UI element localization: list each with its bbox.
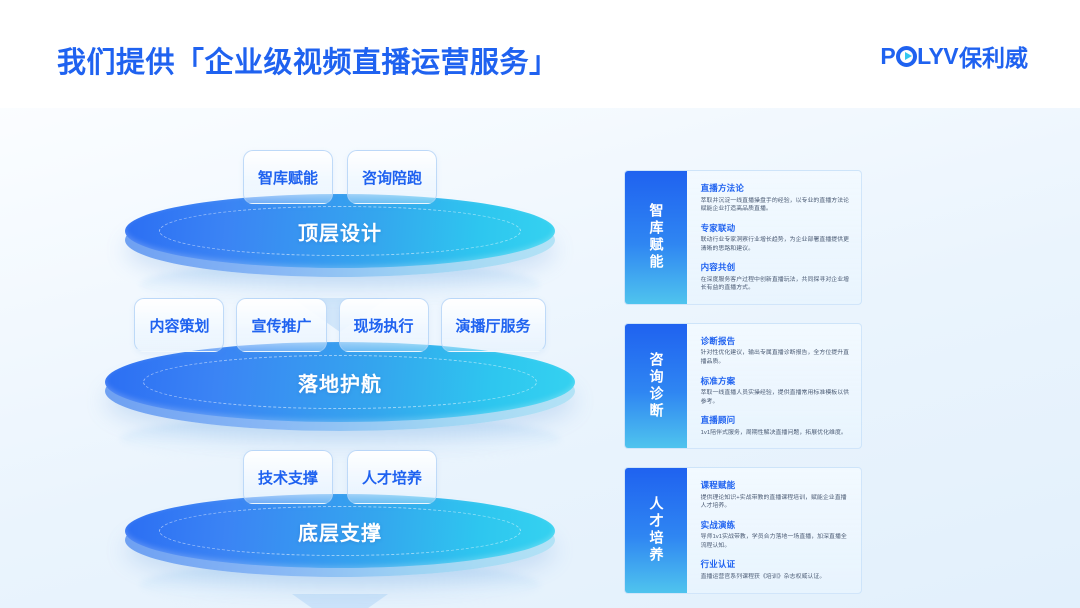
chip-zixun-peipao[interactable]: 咨询陪跑 — [347, 150, 437, 204]
item-desc: 联动行业专家洞察行业增长趋势，为企业部署直播提供更清晰的思路和建议。 — [701, 236, 851, 253]
item-desc: 萃取一线直播人员实操经验，提供直播常用标准模板以供参考。 — [701, 389, 851, 406]
tier-middle-disc[interactable]: 落地护航 — [105, 342, 575, 422]
list-item: 内容共创 在深度服务客户过程中创新直播玩法，共同探寻对企业增长有益的直播方式。 — [701, 261, 851, 293]
panel-1-tab-label: 智库赋能 — [648, 203, 663, 271]
chip-xianchang-zhixing[interactable]: 现场执行 — [339, 298, 429, 352]
logo-wordmark: P LYV — [880, 43, 958, 70]
tier-top-label: 顶层设计 — [125, 194, 555, 268]
panel-3-tab-label: 人才培养 — [648, 496, 663, 564]
diagram-tier-bottom: 技术支撑 人才培养 底层支撑 — [60, 450, 620, 590]
item-title: 行业认证 — [701, 558, 851, 570]
tier-middle-chip-row: 内容策划 宣传推广 现场执行 演播厅服务 — [60, 298, 620, 352]
panel-1-tab[interactable]: 智库赋能 — [625, 171, 687, 304]
tier-top-chip-row: 智库赋能 咨询陪跑 — [60, 150, 620, 204]
tier-top-disc[interactable]: 顶层设计 — [125, 194, 555, 268]
tier-bottom-disc-wrap: 底层支撑 — [125, 494, 555, 568]
chip-zhiku-funeng[interactable]: 智库赋能 — [243, 150, 333, 204]
list-item: 专家联动 联动行业专家洞察行业增长趋势，为企业部署直播提供更清晰的思路和建议。 — [701, 222, 851, 254]
tier-bottom-disc[interactable]: 底层支撑 — [125, 494, 555, 568]
logo-play-icon — [896, 46, 917, 67]
tier-bottom-chip-row: 技术支撑 人才培养 — [60, 450, 620, 504]
logo-chinese-name: 保利威 — [959, 39, 1028, 73]
chip-jishu-zhicheng[interactable]: 技术支撑 — [243, 450, 333, 504]
list-item: 直播顾问 1v1陪伴式服务，周期性解决直播问题，拓展优化维度。 — [701, 414, 851, 437]
logo-letters-lyv: LYV — [917, 43, 958, 70]
item-desc: 萃取并沉淀一线直播操盘手的经验，以专业的直播方法论赋能企业打造高品质直播。 — [701, 197, 851, 214]
item-desc: 1v1陪伴式服务，周期性解决直播问题，拓展优化维度。 — [701, 429, 851, 438]
panel-1-body: 直播方法论 萃取并沉淀一线直播操盘手的经验，以专业的直播方法论赋能企业打造高品质… — [687, 171, 861, 304]
item-desc: 提供理论知识+实战带教的直播课程培训，赋能企业直播人才培养。 — [701, 494, 851, 511]
panel-3-body: 课程赋能 提供理论知识+实战带教的直播课程培训，赋能企业直播人才培养。 实战演练… — [687, 468, 861, 592]
list-item: 标准方案 萃取一线直播人员实操经验，提供直播常用标准模板以供参考。 — [701, 375, 851, 407]
item-title: 课程赋能 — [701, 479, 851, 491]
diagram-tier-middle: 内容策划 宣传推广 现场执行 演播厅服务 落地护航 — [60, 298, 620, 448]
logo-letter-p: P — [880, 43, 895, 70]
list-item: 课程赋能 提供理论知识+实战带教的直播课程培训，赋能企业直播人才培养。 — [701, 479, 851, 511]
item-title: 直播顾问 — [701, 414, 851, 426]
item-desc: 在深度服务客户过程中创新直播玩法，共同探寻对企业增长有益的直播方式。 — [701, 276, 851, 293]
panel-2-tab-label: 咨询诊断 — [648, 352, 663, 420]
diagram-tier-top: 智库赋能 咨询陪跑 顶层设计 — [60, 150, 620, 295]
panel-2-body: 诊断报告 针对性优化建议，输出专属直播诊断报告，全方位提升直播品质。 标准方案 … — [687, 324, 861, 448]
item-desc: 导师1v1实战带教，学员合力落地一场直播，加深直播全流程认知。 — [701, 533, 851, 550]
tier-bottom-label: 底层支撑 — [125, 494, 555, 568]
item-title: 直播方法论 — [701, 182, 851, 194]
item-title: 内容共创 — [701, 261, 851, 273]
chip-xuanchuan-tuiguang[interactable]: 宣传推广 — [236, 298, 326, 352]
list-item: 行业认证 直播运营官系列课程获《培训》杂志权威认证。 — [701, 558, 851, 581]
brand-logo: P LYV 保利威 — [880, 42, 1028, 70]
page-title: 我们提供「企业级视频直播运营服务」 — [57, 39, 559, 81]
tier-diagram: 智库赋能 咨询陪跑 顶层设计 内容策划 宣传推广 现场执行 演播厅服务 — [60, 120, 620, 590]
item-title: 标准方案 — [701, 375, 851, 387]
tier-middle-disc-wrap: 落地护航 — [105, 342, 575, 422]
tier-middle-label: 落地护航 — [105, 342, 575, 422]
list-item: 实战演练 导师1v1实战带教，学员合力落地一场直播，加深直播全流程认知。 — [701, 519, 851, 551]
panel-zixun-zhenduan: 咨询诊断 诊断报告 针对性优化建议，输出专属直播诊断报告，全方位提升直播品质。 … — [624, 323, 862, 449]
tier-top-disc-wrap: 顶层设计 — [125, 194, 555, 268]
chip-neirong-cehua[interactable]: 内容策划 — [134, 298, 224, 352]
chip-rencai-peiyang[interactable]: 人才培养 — [347, 450, 437, 504]
item-desc: 针对性优化建议，输出专属直播诊断报告，全方位提升直播品质。 — [701, 349, 851, 366]
item-title: 实战演练 — [701, 519, 851, 531]
page-header: 我们提供「企业级视频直播运营服务」 P LYV 保利威 — [0, 0, 1080, 108]
panel-2-tab[interactable]: 咨询诊断 — [625, 324, 687, 448]
list-item: 诊断报告 针对性优化建议，输出专属直播诊断报告，全方位提升直播品质。 — [701, 335, 851, 367]
item-title: 专家联动 — [701, 222, 851, 234]
list-item: 直播方法论 萃取并沉淀一线直播操盘手的经验，以专业的直播方法论赋能企业打造高品质… — [701, 182, 851, 214]
panel-3-tab[interactable]: 人才培养 — [625, 468, 687, 592]
item-desc: 直播运营官系列课程获《培训》杂志权威认证。 — [701, 573, 851, 582]
chip-yanbo-ting-fuwu[interactable]: 演播厅服务 — [441, 298, 546, 352]
panel-rencai-peiyang: 人才培养 课程赋能 提供理论知识+实战带教的直播课程培训，赋能企业直播人才培养。… — [624, 467, 862, 593]
panel-zhiku-funeng: 智库赋能 直播方法论 萃取并沉淀一线直播操盘手的经验，以专业的直播方法论赋能企业… — [624, 170, 862, 305]
item-title: 诊断报告 — [701, 335, 851, 347]
service-detail-panels: 智库赋能 直播方法论 萃取并沉淀一线直播操盘手的经验，以专业的直播方法论赋能企业… — [624, 170, 862, 608]
